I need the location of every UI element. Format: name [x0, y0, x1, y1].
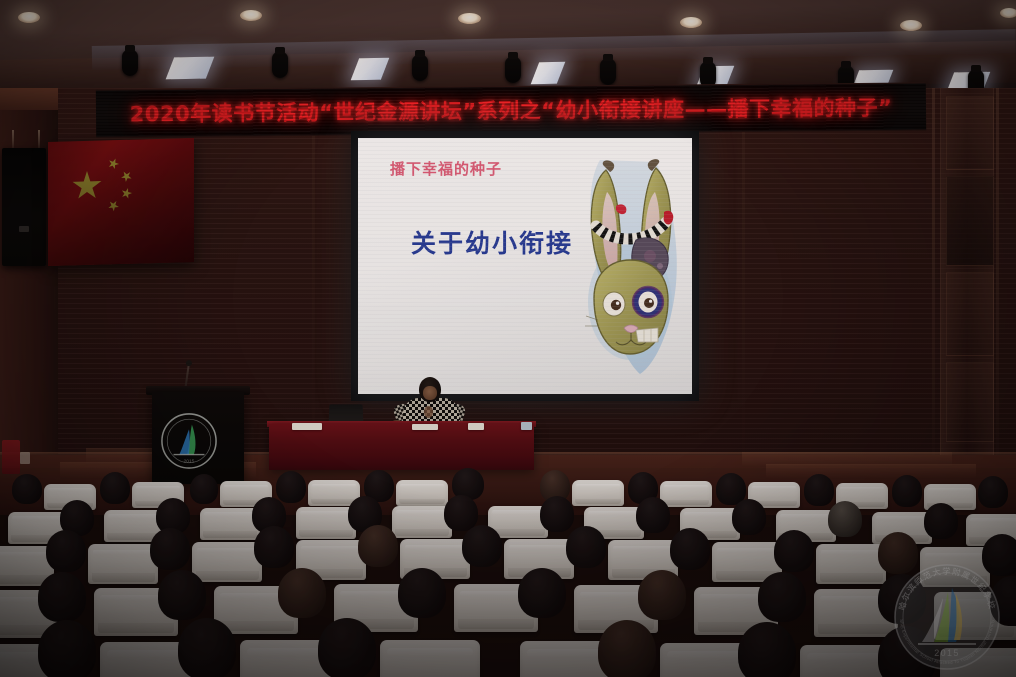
audience-head	[254, 526, 294, 568]
presenter-hand	[424, 406, 433, 418]
seat	[940, 648, 1016, 677]
wall-speaker-icon	[2, 148, 46, 266]
audience-head	[46, 530, 86, 572]
audience-head	[638, 570, 686, 620]
audience-head	[150, 528, 190, 570]
audience-head	[398, 568, 446, 618]
audience-head	[444, 495, 478, 531]
seat	[380, 640, 480, 677]
audience-head	[178, 618, 236, 677]
downlight-icon	[240, 10, 262, 21]
audience-head	[828, 501, 862, 537]
audience-head	[878, 626, 936, 677]
presenter-face	[423, 386, 437, 400]
wall-niche	[946, 362, 994, 442]
downlight-icon	[900, 20, 922, 31]
spotlight-icon	[412, 55, 428, 81]
auditorium-photo: 2020年读书节活动“世纪金源讲坛”系列之“幼小衔接讲座——播下幸福的种子” 播…	[0, 0, 1016, 677]
svg-text:2015: 2015	[184, 458, 195, 464]
audience-head	[990, 576, 1016, 626]
audience-head	[670, 528, 710, 570]
banner-title-text: 2020年读书节活动“世纪金源讲坛”系列之“幼小衔接讲座——播下幸福的种子”	[130, 92, 893, 129]
audience-head	[540, 496, 574, 532]
audience-head	[774, 530, 814, 572]
downlight-icon	[680, 17, 702, 28]
audience-head	[636, 497, 670, 533]
audience-head	[278, 568, 326, 618]
school-sail-emblem: 2015	[160, 412, 218, 470]
seat	[192, 542, 262, 582]
audience-head	[758, 572, 806, 622]
china-national-flag	[48, 138, 194, 266]
audience-head	[12, 474, 42, 504]
audience-head	[566, 526, 606, 568]
audience-head	[190, 474, 218, 504]
presenter-table	[269, 424, 534, 470]
audience-head	[318, 618, 376, 677]
downlight-icon	[18, 12, 40, 23]
paper-sheet	[292, 423, 322, 430]
stage-prop	[20, 452, 30, 464]
audience-head	[738, 622, 796, 677]
flag-shading	[48, 138, 194, 266]
audience-head	[276, 471, 306, 503]
seat	[816, 544, 886, 584]
audience-head	[158, 570, 206, 620]
audience-head	[518, 568, 566, 618]
audience-head	[878, 574, 926, 624]
led-banner: 2020年读书节活动“世纪金源讲坛”系列之“幼小衔接讲座——播下幸福的种子”	[96, 82, 926, 137]
audience-head	[978, 476, 1008, 508]
seat	[920, 547, 990, 587]
audience-head	[732, 499, 766, 535]
audience-seating	[0, 468, 1016, 677]
spotlight-icon	[122, 50, 138, 76]
slide-title: 播下幸福的种子	[390, 158, 502, 179]
audience-head	[892, 475, 922, 507]
paper-sheet	[521, 422, 532, 430]
rabbit-illustration	[572, 152, 688, 378]
spotlight-icon	[272, 52, 288, 78]
wall-niche	[946, 96, 994, 170]
paper-sheet	[412, 424, 438, 430]
audience-head	[38, 620, 96, 677]
seat	[572, 480, 624, 506]
slide-main-text: 关于幼小衔接	[411, 224, 573, 260]
spotlight-icon	[600, 59, 616, 85]
downlight-icon	[458, 13, 481, 24]
wall-seam	[996, 88, 999, 480]
spotlight-icon	[505, 57, 521, 83]
speaker-hanger	[12, 130, 14, 150]
seat	[392, 506, 452, 538]
audience-head	[924, 503, 958, 539]
projection-screen: 播下幸福的种子 关于幼小衔接	[358, 138, 692, 394]
downlight-icon	[1000, 8, 1016, 18]
audience-head	[598, 620, 656, 677]
speaker-hanger	[38, 130, 40, 150]
paper-sheet	[468, 423, 484, 430]
seat	[396, 480, 448, 506]
seat	[88, 544, 158, 584]
audience-head	[38, 572, 86, 622]
wall-wood-trim	[0, 88, 58, 110]
audience-head	[358, 525, 398, 567]
audience-head	[878, 532, 918, 574]
audience-head	[804, 474, 834, 506]
seat	[660, 481, 712, 507]
wall-seam	[742, 88, 745, 480]
audience-head	[982, 534, 1016, 576]
audience-head	[462, 525, 502, 567]
seat	[200, 508, 260, 540]
wall-niche	[946, 176, 994, 266]
wall-seam	[932, 88, 935, 480]
audience-head	[100, 472, 130, 504]
seat	[296, 507, 356, 539]
wall-niche	[946, 272, 994, 356]
